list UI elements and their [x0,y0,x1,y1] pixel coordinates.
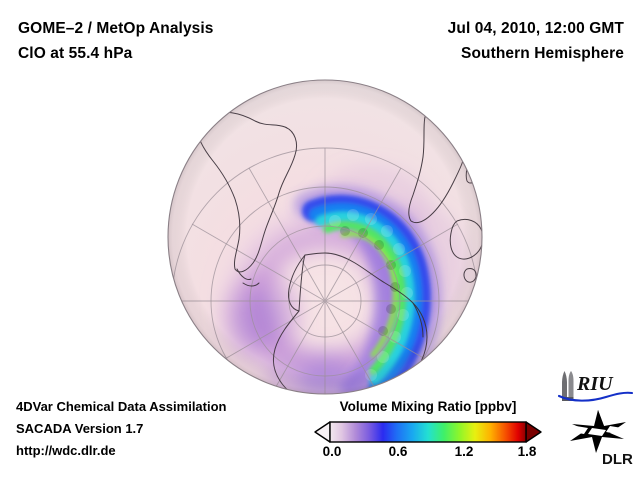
colorbar-under-cap [315,422,330,442]
method-label: 4DVar Chemical Data Assimilation [16,396,316,418]
globe-limb-shading [168,80,482,394]
colorbar: Volume Mixing Ratio [ppbv] [312,398,544,462]
colorbar-tick-3: 1.8 [518,444,537,459]
datetime-label: Jul 04, 2010, 12:00 GMT [294,16,624,41]
colorbar-tick-0: 0.0 [323,444,342,459]
colorbar-svg [312,421,544,443]
colorbar-over-cap [526,422,541,442]
colorbar-graphic [312,421,544,443]
riu-logo: RIU [556,371,634,403]
colorbar-tick-1: 0.6 [389,444,408,459]
colorbar-title: Volume Mixing Ratio [ppbv] [312,398,544,415]
dlr-mark-icon [570,410,626,453]
website-link[interactable]: http://wdc.dlr.de [16,440,316,462]
footer-credits: 4DVar Chemical Data Assimilation SACADA … [16,396,316,462]
hemisphere-label: Southern Hemisphere [294,41,624,66]
dlr-wordmark: DLR [602,451,633,468]
dlr-logo: DLR [562,408,636,470]
version-label: SACADA Version 1.7 [16,418,316,440]
riu-wordmark: RIU [576,373,614,395]
riu-logo-svg: RIU [556,371,634,403]
polar-map-svg [167,79,483,395]
colorbar-tick-labels: 0.0 0.6 1.2 1.8 [312,444,544,462]
colorbar-ramp [330,422,526,442]
polar-map [167,79,483,395]
riu-towers-icon [562,371,574,401]
header-right-block: Jul 04, 2010, 12:00 GMT Southern Hemisph… [294,16,624,66]
dlr-logo-svg: DLR [562,408,636,470]
colorbar-tick-2: 1.2 [455,444,474,459]
